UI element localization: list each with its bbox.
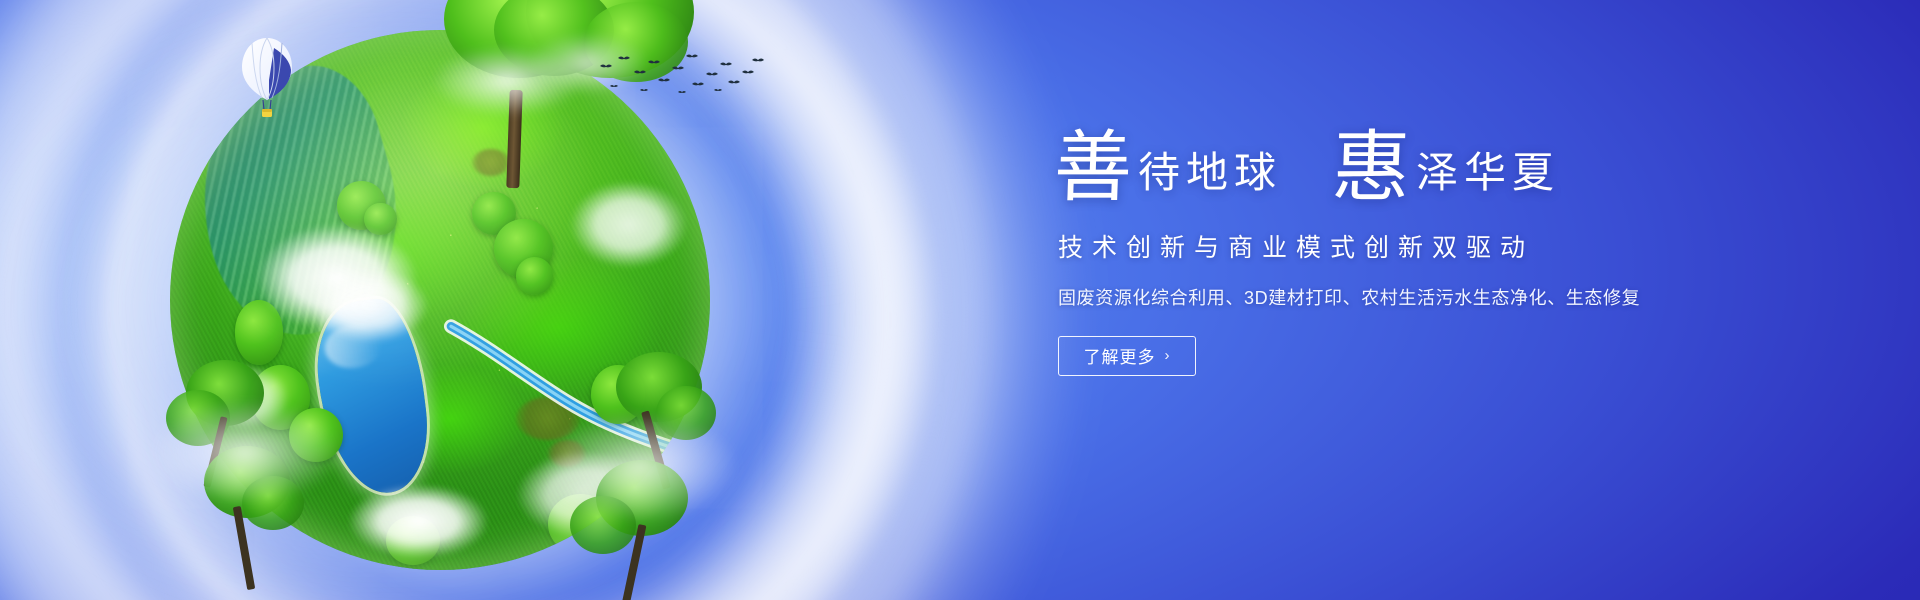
hero-banner: 善 待地球 惠 泽华夏 技术创新与商业模式创新双驱动 固废资源化综合利用、3D建…	[0, 0, 1920, 600]
headline-text-2: 泽华夏	[1416, 153, 1560, 204]
cloud-icon	[540, 412, 740, 522]
tree-icon	[398, 0, 698, 208]
cloud-icon	[150, 400, 340, 504]
headline-char-1: 善	[1053, 132, 1134, 204]
learn-more-label: 了解更多	[1084, 343, 1156, 368]
learn-more-button[interactable]: 了解更多 ›	[1058, 336, 1196, 376]
hero-text-block: 善 待地球 惠 泽华夏 技术创新与商业模式创新双驱动 固废资源化综合利用、3D建…	[1058, 132, 1838, 376]
page-title: 善 待地球 惠 泽华夏	[1054, 132, 1838, 204]
headline-char-2: 惠	[1331, 132, 1412, 204]
hero-subtitle: 技术创新与商业模式创新双驱动	[1058, 228, 1838, 264]
bird-flock-icon	[596, 52, 766, 100]
hot-air-balloon-icon	[238, 36, 296, 124]
headline-text-1: 待地球	[1138, 153, 1282, 204]
chevron-right-icon: ›	[1165, 348, 1171, 363]
hero-description: 固废资源化综合利用、3D建材打印、农村生活污水生态净化、生态修复	[1058, 284, 1838, 310]
